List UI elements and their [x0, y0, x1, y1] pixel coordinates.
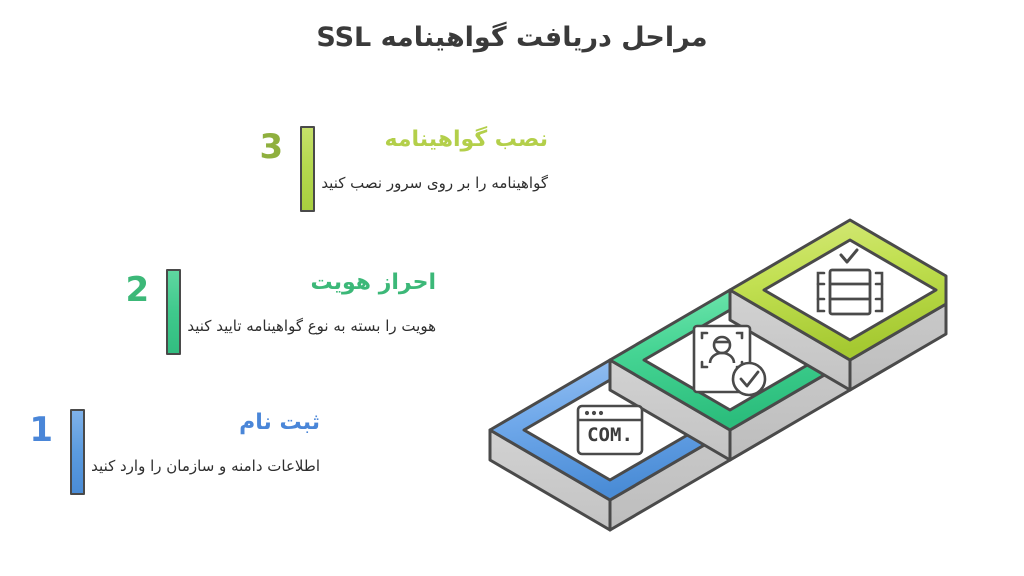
step-2-heading: احراز هویت — [310, 269, 436, 297]
infographic-canvas: مراحل دریافت گواهینامه SSL نصب گواهینامه… — [0, 0, 1024, 576]
step-1-texts: ثبت نام اطلاعات دامنه و سازمان را وارد ک… — [91, 409, 320, 476]
dotcom-label: .COM — [587, 424, 633, 446]
step-1-description: اطلاعات دامنه و سازمان را وارد کنید — [91, 457, 320, 477]
step-1-number: 1 — [18, 413, 64, 447]
isometric-staircase-graphic: .COM — [468, 78, 948, 558]
page-title: مراحل دریافت گواهینامه SSL — [0, 22, 1024, 53]
step-3-accent-bar — [300, 126, 315, 212]
step-3-number: 3 — [248, 130, 294, 164]
step-2-texts: احراز هویت هویت را بسته به نوع گواهینامه… — [187, 269, 436, 336]
step-block-1: ثبت نام اطلاعات دامنه و سازمان را وارد ک… — [18, 409, 320, 495]
step-1-accent-bar — [70, 409, 85, 495]
step-block-2: احراز هویت هویت را بسته به نوع گواهینامه… — [114, 269, 436, 355]
step-2-number: 2 — [114, 273, 160, 307]
step-2-accent-bar — [166, 269, 181, 355]
step-1-heading: ثبت نام — [239, 409, 320, 437]
step-2-description: هویت را بسته به نوع گواهینامه تایید کنید — [187, 317, 436, 337]
browser-dotcom-icon: .COM — [578, 406, 642, 454]
